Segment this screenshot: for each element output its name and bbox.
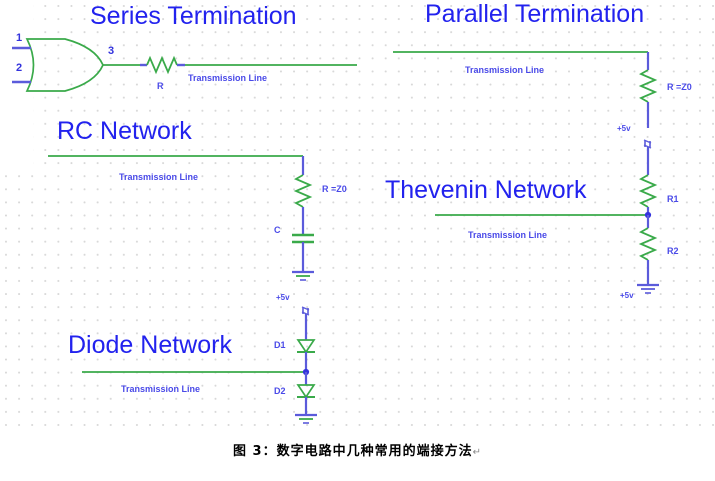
diode-d1-symbol: [297, 340, 315, 352]
thevenin-network-title: Thevenin Network: [385, 176, 586, 205]
thevenin-transmission-line-label: Transmission Line: [468, 230, 547, 240]
rc-ground-symbol: [292, 272, 314, 280]
thevenin-r2-symbol: [641, 228, 655, 260]
parallel-resistor-symbol: [641, 70, 655, 102]
rc-network-title: RC Network: [57, 117, 192, 146]
thevenin-r1-label: R1: [667, 194, 679, 204]
parallel-transmission-line-label: Transmission Line: [465, 65, 544, 75]
parallel-resistor-label: R =Z0: [667, 82, 692, 92]
diode-d1-label: D1: [274, 340, 286, 350]
parallel-supply-label: +5v: [617, 124, 631, 133]
or-gate-input2-label: 2: [16, 62, 22, 74]
or-gate-symbol: [27, 39, 103, 91]
diode-transmission-line-label: Transmission Line: [121, 384, 200, 394]
series-transmission-line-label: Transmission Line: [188, 73, 267, 83]
diode-d2-label: D2: [274, 386, 286, 396]
rc-resistor-label: R =Z0: [322, 184, 347, 194]
thevenin-r2-label: R2: [667, 246, 679, 256]
diode-supply-label: +5v: [276, 293, 290, 302]
rc-capacitor-label: C: [274, 225, 281, 235]
or-gate-input1-label: 1: [16, 32, 22, 44]
rc-resistor-symbol: [296, 175, 310, 207]
parallel-supply-marker: [644, 140, 651, 148]
series-termination-circuit: [12, 39, 357, 91]
diode-network-circuit: [82, 307, 317, 423]
rc-transmission-line-label: Transmission Line: [119, 172, 198, 182]
figure-caption-text: 图 3：数字电路中几种常用的端接方法: [233, 444, 473, 459]
thevenin-ground-symbol: [637, 285, 659, 293]
series-termination-title: Series Termination: [90, 2, 297, 31]
diode-supply-marker: [302, 307, 309, 315]
thevenin-supply-label: +5v: [620, 291, 634, 300]
or-gate-output-label: 3: [108, 45, 114, 57]
figure-container: Series Termination 1 2 3 R Transmission …: [0, 0, 715, 481]
caption-pilcrow-mark: ↵: [473, 447, 482, 458]
series-resistor-symbol: [147, 58, 177, 72]
series-resistor-label: R: [157, 81, 164, 91]
figure-caption: 图 3：数字电路中几种常用的端接方法↵: [0, 440, 715, 459]
diode-network-title: Diode Network: [68, 331, 232, 360]
parallel-termination-title: Parallel Termination: [425, 0, 644, 29]
diode-ground-symbol: [295, 415, 317, 423]
thevenin-r1-symbol: [641, 175, 655, 207]
schematic-drawing: [0, 0, 715, 434]
diode-d2-symbol: [297, 385, 315, 397]
